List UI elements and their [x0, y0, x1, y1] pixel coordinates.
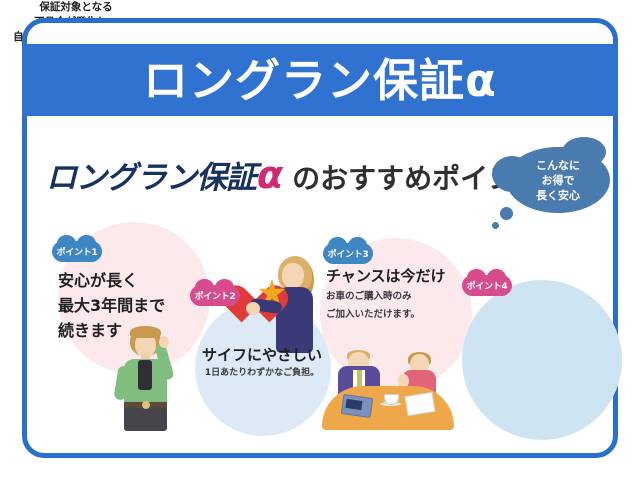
subtitle-main: ロングラン保証	[46, 152, 256, 197]
subtitle-alpha: α	[257, 153, 283, 197]
skirt-shape	[124, 407, 167, 431]
point-1-line-1: 安心が長く	[58, 268, 165, 293]
two-people-at-table-illustration	[322, 352, 454, 430]
face-shape	[282, 263, 304, 288]
point-2-text: サイフにやさしい 1日あたりわずかなご負担。	[188, 345, 336, 380]
belt-buckle-shape	[142, 401, 150, 409]
point-1-line-3: 続きます	[58, 318, 165, 343]
inner-top-shape	[138, 360, 152, 390]
thought-bubble-line-1: こんなに	[536, 158, 580, 173]
point-2-badge: ポイント2	[190, 285, 240, 306]
thought-bubble: こんなに お得で 長く安心	[506, 147, 610, 213]
thought-bubble-line-2: お得で	[542, 173, 575, 188]
woman-holding-heart-illustration	[236, 256, 328, 356]
subtitle-row: ロングラン保証 α のおすすめポイント	[46, 152, 544, 197]
point-4-badge: ポイント4	[462, 275, 512, 296]
point-3-text: チャンスは今だけ お車のご購入時のみ ご加入いただけます。	[326, 266, 476, 322]
left-hand-shape	[246, 302, 260, 315]
point-4-line-1: 保証対象となる	[0, 0, 152, 15]
thought-bubble-dot-small	[492, 222, 499, 229]
point-2-subtext: 1日あたりわずかなご負担。	[188, 366, 336, 380]
point-1-text: 安心が長く 最大3年間まで 続きます	[58, 268, 165, 343]
header-band: ロングラン保証α	[22, 44, 618, 116]
point-3-badge: ポイント3	[323, 243, 373, 264]
thought-bubble-dot-large	[500, 207, 513, 220]
point-1-badge: ポイント1	[52, 241, 102, 262]
point-1-line-2: 最大3年間まで	[58, 293, 165, 318]
poster-root: ロングラン保証α ロングラン保証 α のおすすめポイント こんなに お得で 長く…	[0, 0, 640, 480]
thought-bubble-line-3: 長く安心	[536, 188, 580, 203]
header-title: ロングラン保証α	[22, 44, 618, 116]
point-3-subtext-line-1: お車のご購入時のみ	[326, 289, 476, 304]
point-2-headline: サイフにやさしい	[188, 345, 336, 365]
point-3-subtext-line-2: ご加入いただけます。	[326, 307, 476, 322]
point-3-headline: チャンスは今だけ	[326, 266, 476, 286]
